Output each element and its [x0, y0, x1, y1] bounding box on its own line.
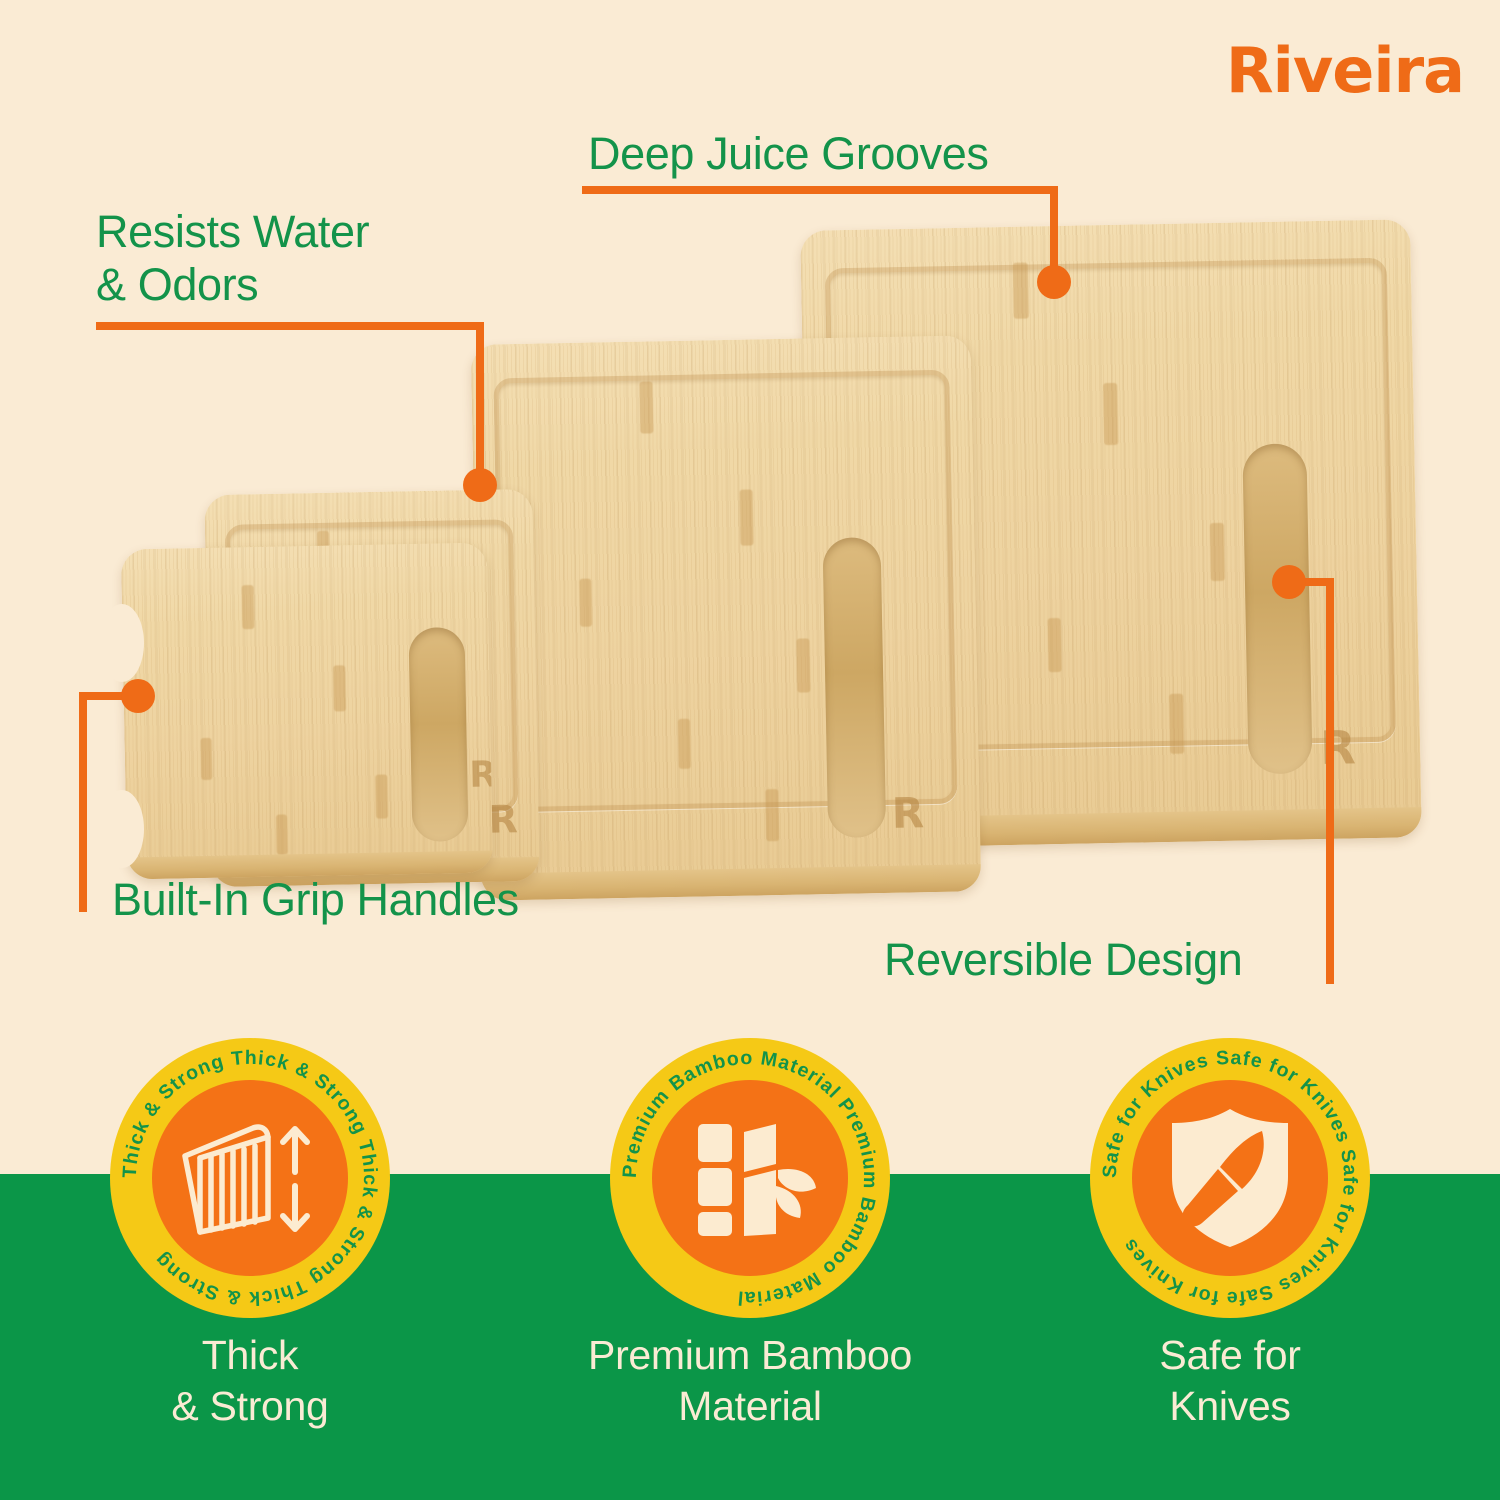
- callout-resists-water-dot: [463, 468, 497, 502]
- callout-grip-line-v: [79, 692, 87, 912]
- brand-engraving: R: [891, 788, 924, 838]
- grip-handle: [1242, 443, 1312, 774]
- callout-resists-water-line-v: [476, 322, 484, 480]
- brand-engraving: R: [488, 797, 518, 842]
- callout-deep-juice-grooves-label: Deep Juice Grooves: [588, 128, 989, 181]
- badge-core: [652, 1080, 848, 1276]
- badge-safe-for-knives: Safe for Knives Safe for Knives Safe for…: [1090, 1038, 1370, 1318]
- badge-core: [1132, 1080, 1328, 1276]
- callout-reversible-dot: [1272, 565, 1306, 599]
- cutting-board-medium-large: R: [471, 335, 982, 900]
- callout-deep-juice-dot: [1037, 265, 1071, 299]
- callout-resists-water-label: Resists Water & Odors: [96, 206, 369, 311]
- board-side-notch: [100, 790, 144, 868]
- callout-resists-water-line-h: [96, 322, 484, 330]
- callout-grip-handles-label: Built-In Grip Handles: [112, 874, 519, 927]
- badge-core: [152, 1080, 348, 1276]
- badge-caption-thick-and-strong: Thick & Strong: [80, 1330, 420, 1433]
- board-thickness-icon: [175, 1114, 325, 1242]
- badge-caption-safe-for-knives: Safe for Knives: [1060, 1330, 1400, 1433]
- callout-reversible-design-label: Reversible Design: [884, 934, 1242, 987]
- badge-caption-premium-bamboo: Premium Bamboo Material: [580, 1330, 920, 1433]
- badge-premium-bamboo: Premium Bamboo Material Premium Bamboo M…: [610, 1038, 890, 1318]
- board-side-notch: [100, 604, 144, 682]
- brand-engraving: R: [469, 754, 493, 796]
- callout-grip-dot: [121, 679, 155, 713]
- grip-handle: [408, 627, 468, 842]
- bamboo-stalk-icon: [680, 1108, 820, 1248]
- grip-handle: [822, 537, 886, 838]
- callout-reversible-line-v: [1326, 578, 1334, 984]
- callout-deep-juice-line-v: [1050, 186, 1058, 276]
- badge-thick-and-strong: Thick & Strong Thick & Strong Thick & St…: [110, 1038, 390, 1318]
- juice-groove: [493, 370, 957, 813]
- cutting-board-small: R: [121, 543, 493, 880]
- callout-deep-juice-line-h: [582, 186, 1058, 194]
- infographic-stage: Riveira R R: [0, 0, 1500, 1500]
- shield-knife-icon: [1162, 1105, 1298, 1251]
- board-edge: [481, 864, 981, 901]
